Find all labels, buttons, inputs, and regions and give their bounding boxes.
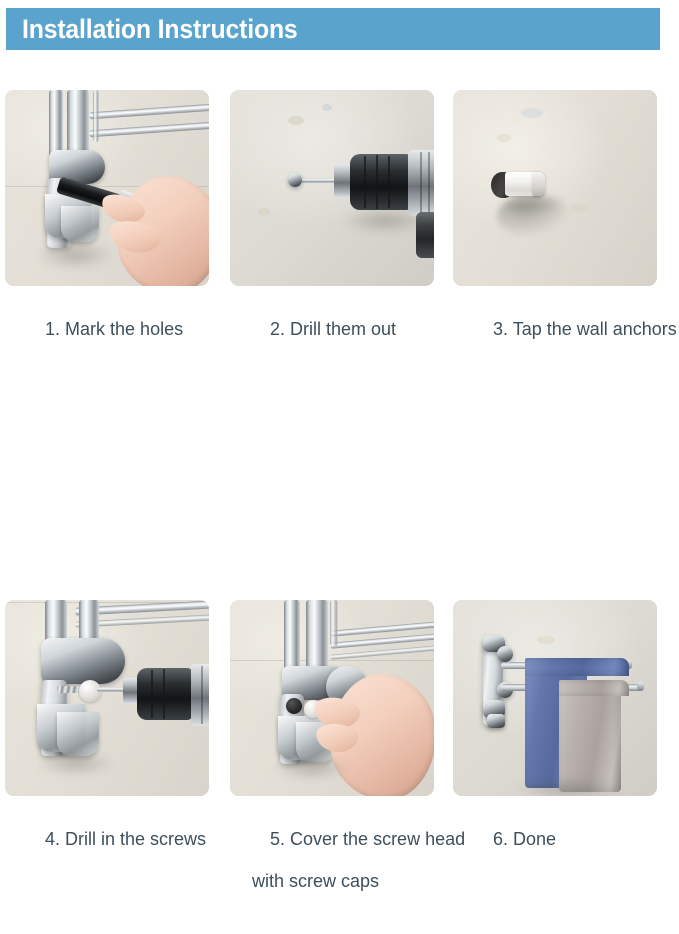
steps-row-2: 4. Drill in the screws	[0, 305, 679, 555]
step-caption-6-line1: 6. Done	[493, 829, 556, 849]
step-image-4	[5, 600, 209, 796]
step-image-1	[5, 90, 209, 286]
page-header-bar: Installation Instructions	[6, 8, 660, 50]
step-image-3	[453, 90, 657, 286]
step-caption-6: 6. Done	[453, 808, 657, 871]
page-title: Installation Instructions	[22, 14, 298, 45]
step-caption-4: 4. Drill in the screws	[5, 808, 209, 871]
step-image-5	[230, 600, 434, 796]
step-caption-5: 5. Cover the screw head with screw caps	[230, 808, 465, 934]
step-caption-5-line1: 5. Cover the screw head	[270, 829, 465, 849]
step-image-6	[453, 600, 657, 796]
step-caption-4-line1: 4. Drill in the screws	[45, 829, 206, 849]
step-card-4: 4. Drill in the screws	[5, 600, 209, 871]
steps-row-1: 1. Mark the holes	[0, 50, 679, 305]
instruction-steps-grid: 1. Mark the holes	[0, 50, 679, 555]
step-caption-5-line2: with screw caps	[230, 871, 465, 892]
step-card-5: 5. Cover the screw head with screw caps	[230, 600, 465, 934]
step-image-2	[230, 90, 434, 286]
step-card-6: 6. Done	[453, 600, 657, 871]
